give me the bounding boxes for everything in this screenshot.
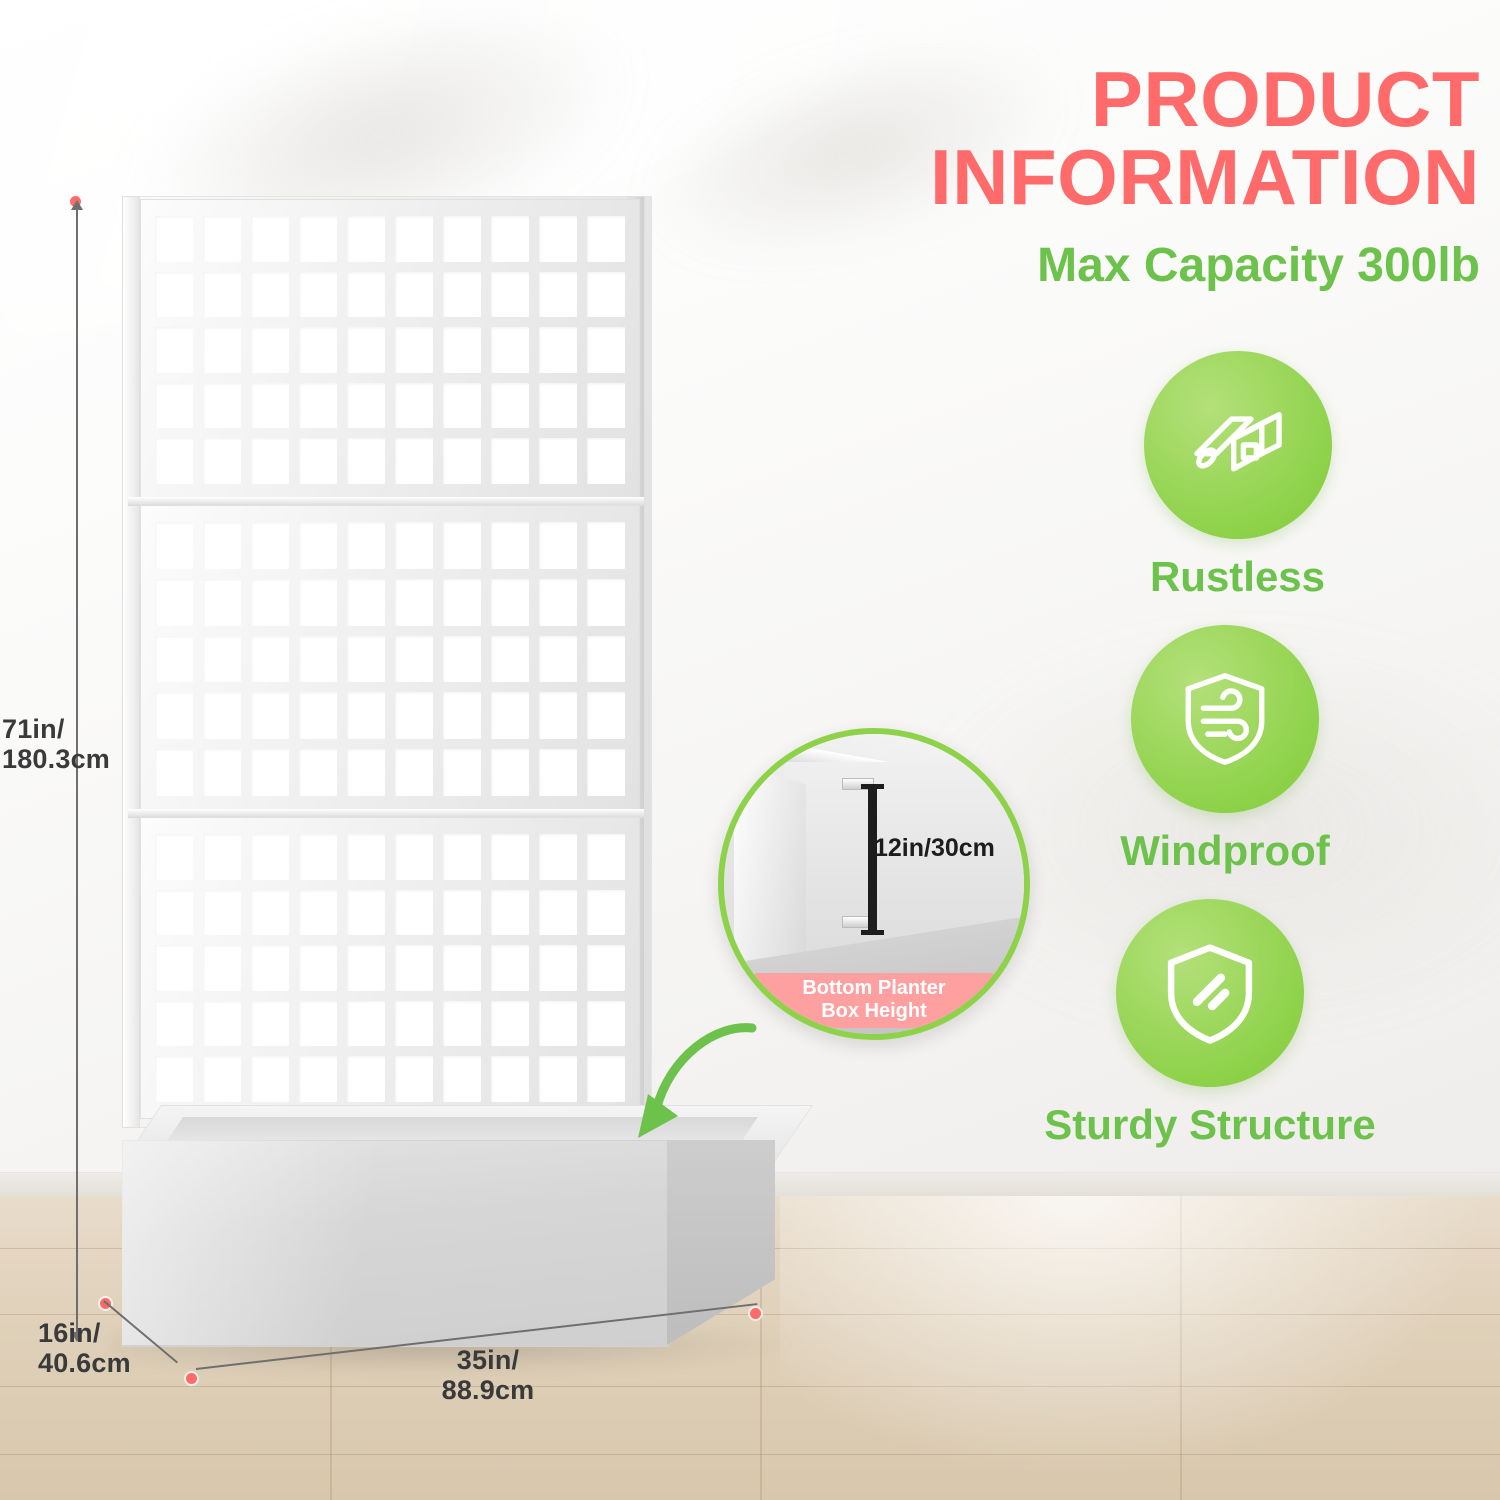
material-bars-icon — [1184, 391, 1292, 499]
lattice-hole — [299, 383, 337, 429]
lattice-hole — [587, 216, 625, 262]
lattice-hole — [203, 579, 241, 626]
wind-shield-icon — [1171, 665, 1279, 773]
lattice-hole — [203, 890, 241, 936]
lattice-hole — [443, 327, 481, 373]
lattice-hole — [251, 272, 289, 318]
lattice-hole — [443, 1001, 481, 1047]
lattice-hole — [155, 438, 193, 484]
lattice-hole — [443, 383, 481, 429]
lattice-hole — [539, 579, 577, 626]
lattice-hole — [347, 636, 385, 683]
lattice-hole — [443, 890, 481, 936]
lattice-hole — [395, 579, 433, 626]
lattice-hole — [539, 1056, 577, 1102]
lattice-hole — [203, 692, 241, 739]
lattice-hole — [539, 945, 577, 991]
lattice-hole — [347, 327, 385, 373]
lattice-hole — [539, 522, 577, 569]
lattice-hole — [539, 272, 577, 318]
lattice-hole — [587, 383, 625, 429]
lattice-hole — [587, 890, 625, 936]
lattice-hole — [251, 327, 289, 373]
lattice-hole — [443, 834, 481, 880]
lattice-hole — [395, 945, 433, 991]
lattice-hole — [299, 327, 337, 373]
lattice-hole — [443, 636, 481, 683]
lattice-hole — [155, 945, 193, 991]
width-label-line1: 35in/ — [457, 1345, 520, 1375]
lattice-panel-middle — [140, 505, 640, 813]
lattice-hole — [491, 945, 529, 991]
lattice-hole — [299, 692, 337, 739]
lattice-hole — [587, 1001, 625, 1047]
lattice-hole — [299, 1056, 337, 1102]
lattice-hole — [587, 692, 625, 739]
lattice-hole — [443, 692, 481, 739]
lattice-hole — [395, 1056, 433, 1102]
lattice-hole — [347, 749, 385, 796]
lattice-hole — [203, 834, 241, 880]
lattice-hole — [299, 272, 337, 318]
lattice-hole — [395, 522, 433, 569]
depth-label-line1: 16in/ — [38, 1318, 101, 1348]
lattice-hole — [491, 327, 529, 373]
lattice-hole — [347, 1001, 385, 1047]
trellis-post-left — [122, 196, 140, 1128]
lattice-hole — [539, 636, 577, 683]
lattice-hole — [299, 438, 337, 484]
lattice-hole — [491, 834, 529, 880]
lattice-hole — [587, 438, 625, 484]
height-dimension-label: 71in/ 180.3cm — [2, 714, 132, 774]
lattice-hole — [251, 1056, 289, 1102]
lattice-hole — [539, 749, 577, 796]
lattice-hole — [251, 1001, 289, 1047]
lattice-hole — [587, 636, 625, 683]
lattice-hole — [203, 438, 241, 484]
lattice-hole — [539, 1001, 577, 1047]
feature-sturdy-structure: Sturdy Structure — [940, 899, 1480, 1149]
shield-check-icon — [1156, 939, 1264, 1047]
feature-label: Rustless — [995, 553, 1480, 601]
height-label-line2: 180.3cm — [2, 744, 110, 774]
lattice-hole — [491, 890, 529, 936]
depth-label-line2: 40.6cm — [38, 1348, 131, 1378]
lattice-hole — [251, 890, 289, 936]
lattice-hole — [299, 636, 337, 683]
lattice-hole — [443, 522, 481, 569]
feature-label: Sturdy Structure — [940, 1101, 1480, 1149]
lattice-hole — [155, 749, 193, 796]
lattice-hole — [251, 945, 289, 991]
lattice-hole — [299, 522, 337, 569]
lattice-hole — [347, 579, 385, 626]
lattice-hole — [203, 216, 241, 262]
lattice-hole — [155, 383, 193, 429]
lattice-hole — [203, 522, 241, 569]
lattice-hole — [539, 438, 577, 484]
height-label-line1: 71in/ — [2, 714, 65, 744]
feature-rustless: Rustless — [995, 351, 1480, 601]
title-line-2: INFORMATION — [930, 133, 1480, 221]
feature-badge — [1144, 351, 1332, 539]
lattice-hole — [395, 216, 433, 262]
lattice-hole — [251, 438, 289, 484]
lattice-hole — [539, 890, 577, 936]
lattice-hole — [443, 1056, 481, 1102]
lattice-hole — [347, 890, 385, 936]
lattice-hole — [491, 383, 529, 429]
lattice-hole — [491, 579, 529, 626]
product-infographic: 71in/ 180.3cm 16in/ 40.6cm 35in/ 88.9cm … — [0, 0, 1500, 1500]
lattice-hole — [587, 749, 625, 796]
trellis-planter-product — [100, 185, 780, 1345]
lattice-hole — [587, 522, 625, 569]
lattice-hole — [155, 522, 193, 569]
lattice-hole — [395, 1001, 433, 1047]
lattice-panel-top — [140, 199, 640, 501]
lattice-hole — [155, 579, 193, 626]
feature-list: Rustless Windproof — [840, 351, 1480, 1149]
lattice-hole — [347, 383, 385, 429]
feature-badge — [1116, 899, 1304, 1087]
lattice-hole — [395, 692, 433, 739]
lattice-hole — [251, 636, 289, 683]
lattice-hole — [251, 749, 289, 796]
info-column: PRODUCT INFORMATION Max Capacity 300lb — [840, 60, 1480, 1173]
dimension-marker-bottom-right — [750, 1308, 761, 1319]
lattice-hole — [299, 890, 337, 936]
lattice-hole — [443, 945, 481, 991]
lattice-hole — [587, 327, 625, 373]
lattice-hole — [299, 945, 337, 991]
lattice-hole — [395, 636, 433, 683]
lattice-hole — [251, 216, 289, 262]
lattice-hole — [539, 216, 577, 262]
lattice-hole — [395, 890, 433, 936]
lattice-hole — [395, 383, 433, 429]
lattice-hole — [347, 522, 385, 569]
lattice-hole — [347, 945, 385, 991]
lattice-hole — [203, 272, 241, 318]
lattice-hole — [443, 438, 481, 484]
lattice-hole — [539, 692, 577, 739]
lattice-hole — [299, 1001, 337, 1047]
lattice-hole — [443, 216, 481, 262]
lattice-hole — [539, 834, 577, 880]
lattice-hole — [491, 1056, 529, 1102]
lattice-hole — [491, 749, 529, 796]
lattice-hole — [443, 749, 481, 796]
lattice-hole — [155, 1056, 193, 1102]
lattice-hole — [203, 1056, 241, 1102]
lattice-hole — [347, 438, 385, 484]
lattice-hole — [347, 834, 385, 880]
feature-label: Windproof — [970, 827, 1480, 875]
height-arrow-up — [71, 200, 83, 210]
lattice-hole — [491, 692, 529, 739]
width-label-line2: 88.9cm — [442, 1375, 535, 1405]
lattice-hole — [155, 890, 193, 936]
lattice-hole — [587, 1056, 625, 1102]
lattice-hole — [251, 522, 289, 569]
title-line-1: PRODUCT — [1091, 55, 1480, 143]
lattice-hole — [299, 216, 337, 262]
lattice-hole — [347, 216, 385, 262]
page-title: PRODUCT INFORMATION — [840, 60, 1480, 216]
lattice-hole — [347, 1056, 385, 1102]
lattice-hole — [587, 272, 625, 318]
feature-windproof: Windproof — [970, 625, 1480, 875]
lattice-hole — [251, 692, 289, 739]
lattice-hole — [587, 945, 625, 991]
lattice-hole — [395, 438, 433, 484]
lattice-hole — [539, 327, 577, 373]
lattice-hole — [443, 579, 481, 626]
lattice-hole — [155, 1001, 193, 1047]
lattice-hole — [155, 692, 193, 739]
lattice-hole — [251, 579, 289, 626]
lattice-hole — [347, 692, 385, 739]
lattice-hole — [491, 272, 529, 318]
lattice-hole — [395, 834, 433, 880]
lattice-panel-bottom — [140, 817, 640, 1119]
lattice-hole — [491, 216, 529, 262]
lattice-hole — [491, 438, 529, 484]
subtitle: Max Capacity 300lb — [840, 238, 1480, 293]
lattice-hole — [155, 216, 193, 262]
lattice-hole — [491, 636, 529, 683]
lattice-hole — [299, 579, 337, 626]
lattice-hole — [203, 749, 241, 796]
lattice-hole — [395, 749, 433, 796]
lattice-hole — [587, 834, 625, 880]
planter-box-highlight — [122, 1140, 667, 1345]
lattice-hole — [251, 383, 289, 429]
width-dimension-label: 35in/ 88.9cm — [378, 1345, 598, 1405]
lattice-hole — [491, 1001, 529, 1047]
lattice-hole — [395, 272, 433, 318]
lattice-hole — [491, 522, 529, 569]
lattice-hole — [203, 945, 241, 991]
lattice-hole — [203, 636, 241, 683]
lattice-hole — [587, 579, 625, 626]
floor-highlight — [780, 1196, 1500, 1500]
lattice-hole — [299, 749, 337, 796]
callout-pointer-arrow — [630, 1020, 760, 1140]
lattice-hole — [203, 1001, 241, 1047]
lattice-hole — [155, 834, 193, 880]
lattice-hole — [443, 272, 481, 318]
lattice-hole — [155, 636, 193, 683]
lattice-hole — [203, 327, 241, 373]
lattice-hole — [155, 272, 193, 318]
lattice-hole — [539, 383, 577, 429]
feature-badge — [1131, 625, 1319, 813]
lattice-hole — [347, 272, 385, 318]
lattice-hole — [155, 327, 193, 373]
lattice-hole — [251, 834, 289, 880]
depth-dimension-label: 16in/ 40.6cm — [38, 1318, 198, 1378]
lattice-hole — [395, 327, 433, 373]
lattice-hole — [299, 834, 337, 880]
lattice-hole — [203, 383, 241, 429]
